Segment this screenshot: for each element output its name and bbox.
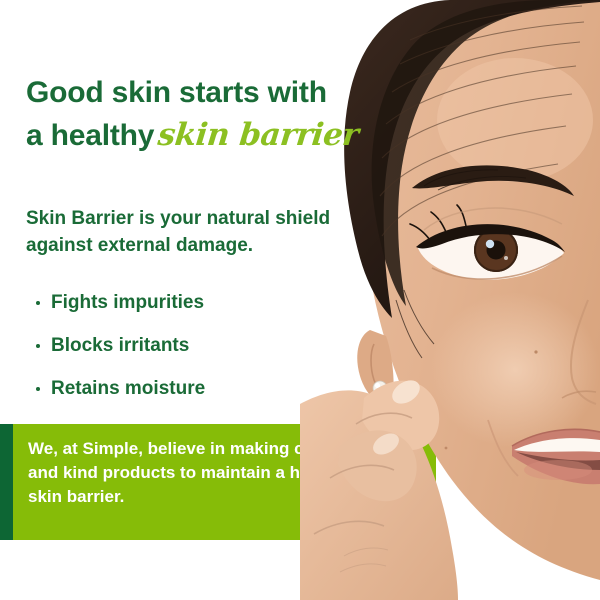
benefit-label: Fights impurities	[51, 292, 204, 313]
headline-line-2: a healthyskin barrier	[26, 114, 359, 157]
benefit-label: Retains moisture	[51, 378, 205, 399]
list-item: Fights impurities	[34, 292, 205, 314]
headline-script-phrase: skin barrier	[152, 114, 361, 156]
headline-line-2-plain: a healthy	[26, 119, 154, 152]
bullet-dot-icon	[36, 301, 40, 305]
bullet-dot-icon	[36, 344, 40, 348]
list-item: Retains moisture	[34, 378, 205, 400]
banner-left-accent-bar	[0, 424, 13, 540]
page-title: Good skin starts with a healthyskin barr…	[26, 72, 359, 157]
skincare-ad-creative: We, at Simple, believe in making clean a…	[0, 0, 600, 600]
list-item: Blocks irritants	[34, 335, 205, 357]
bullet-dot-icon	[36, 387, 40, 391]
headline-line-1: Good skin starts with	[26, 72, 359, 114]
subheading-text: Skin Barrier is your natural shield agai…	[26, 205, 356, 259]
benefit-label: Blocks irritants	[51, 335, 189, 356]
benefits-list: Fights impurities Blocks irritants Retai…	[34, 292, 205, 400]
hand-shape	[300, 376, 458, 600]
